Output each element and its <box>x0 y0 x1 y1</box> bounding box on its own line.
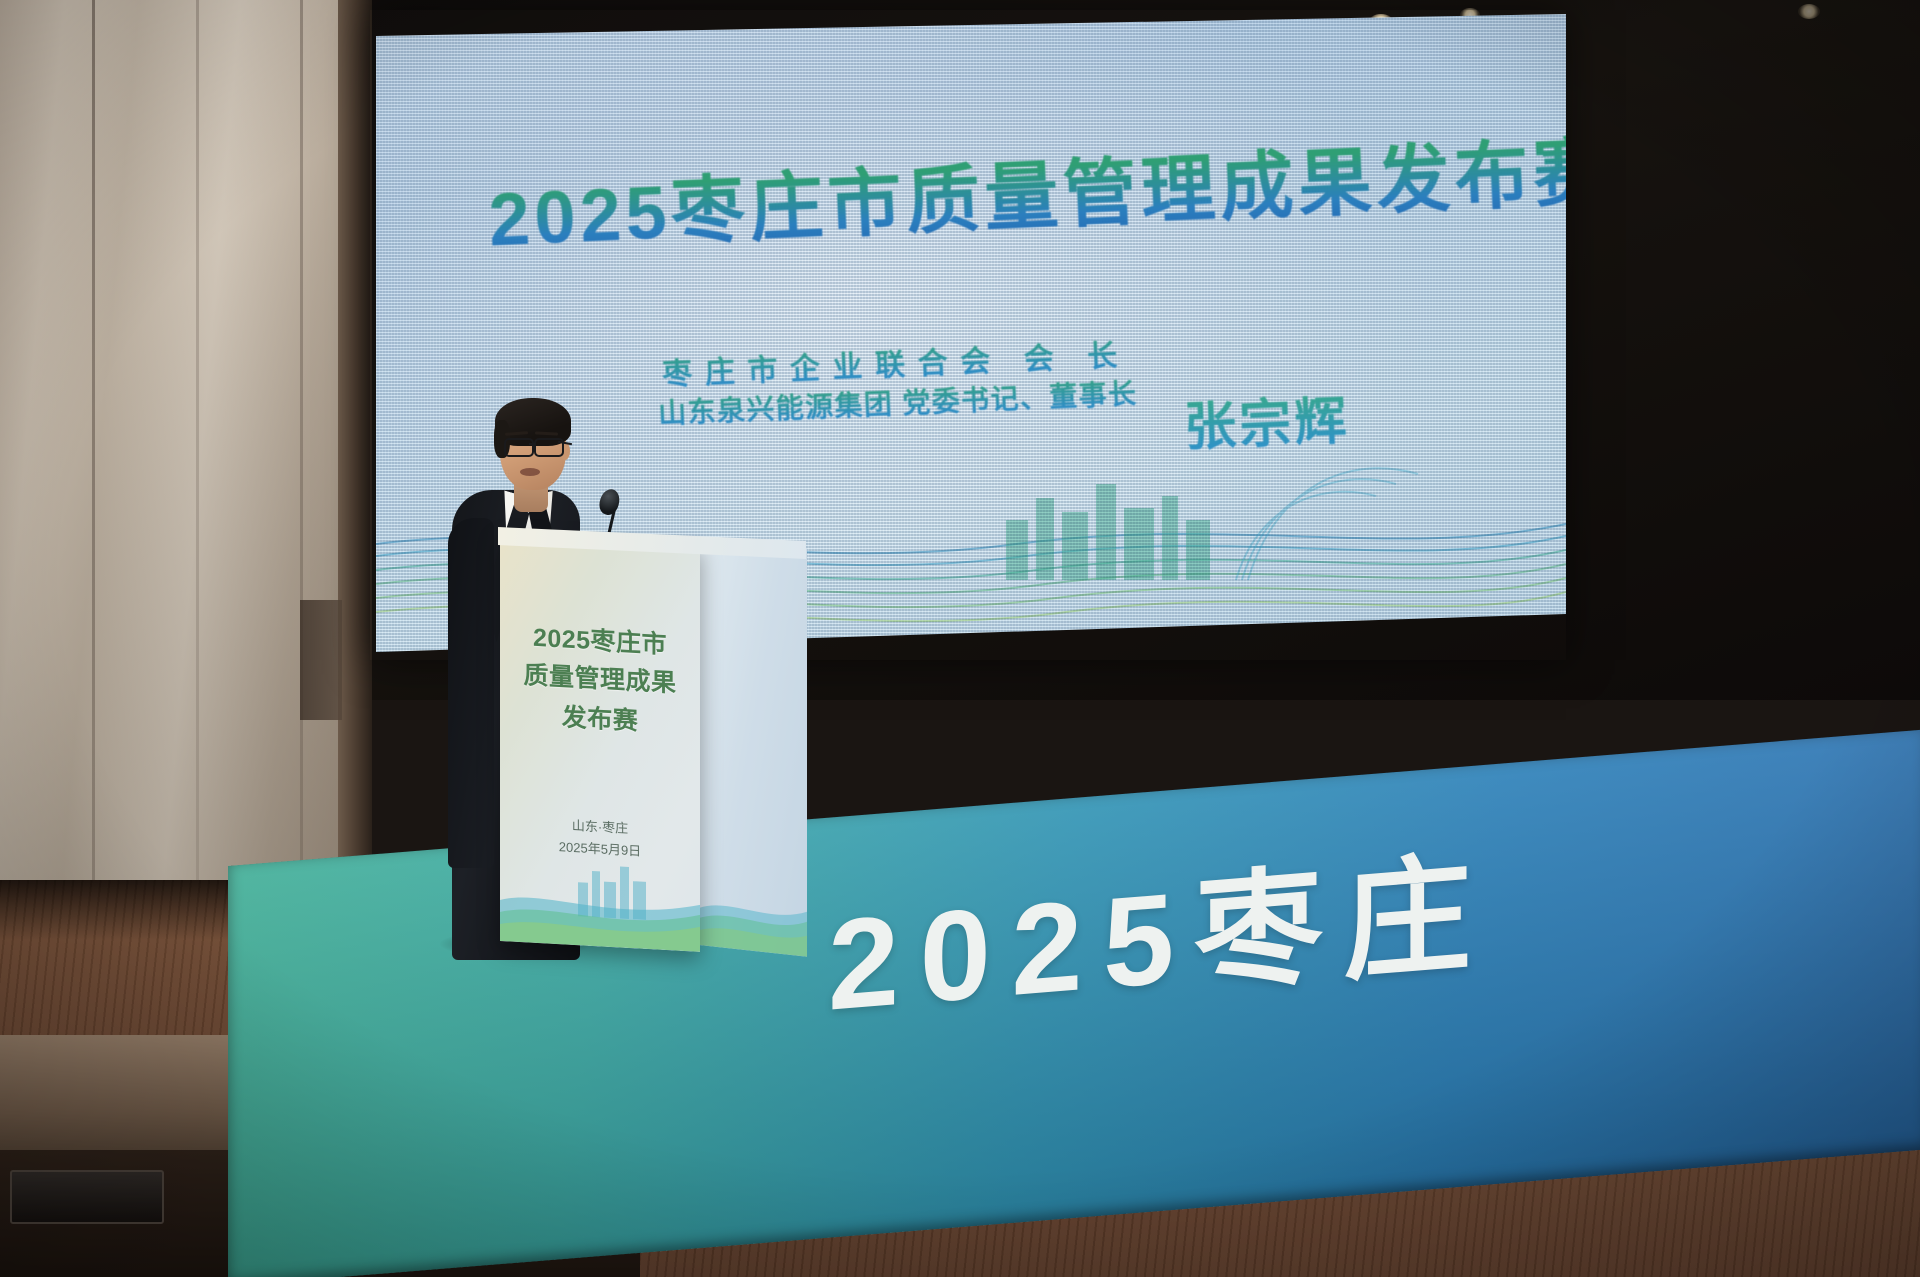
mouth <box>520 468 540 476</box>
ceiling-downlight-icon <box>1798 4 1820 19</box>
podium-title-line-2: 质量管理成果 <box>500 657 700 702</box>
podium-side-panel <box>699 537 807 957</box>
podium-title-line-3: 发布赛 <box>500 697 700 742</box>
conference-stage-scene: 2025枣庄市质量管理成果发布赛 枣庄市企业联合会 会 长 山东泉兴能源集团 党… <box>0 0 1920 1277</box>
podium-front-panel: 2025枣庄市 质量管理成果 发布赛 山东·枣庄 2025年5月9日 <box>500 533 700 952</box>
screen-title: 2025枣庄市质量管理成果发布赛 <box>486 112 1566 268</box>
podium-front-wave-graphic <box>500 846 700 952</box>
floor-vent-grille <box>10 1170 164 1224</box>
podium-lectern: 2025枣庄市 质量管理成果 发布赛 山东·枣庄 2025年5月9日 <box>500 533 806 953</box>
glasses-lens-left <box>504 438 534 457</box>
podium-side-wave-graphic <box>699 850 807 957</box>
glasses-bridge <box>529 443 536 445</box>
podium-title-line-1: 2025枣庄市 <box>500 619 700 664</box>
wall-recess <box>300 600 342 720</box>
suit-arm <box>448 518 494 868</box>
screen-speaker-name: 张宗辉 <box>1183 379 1351 461</box>
